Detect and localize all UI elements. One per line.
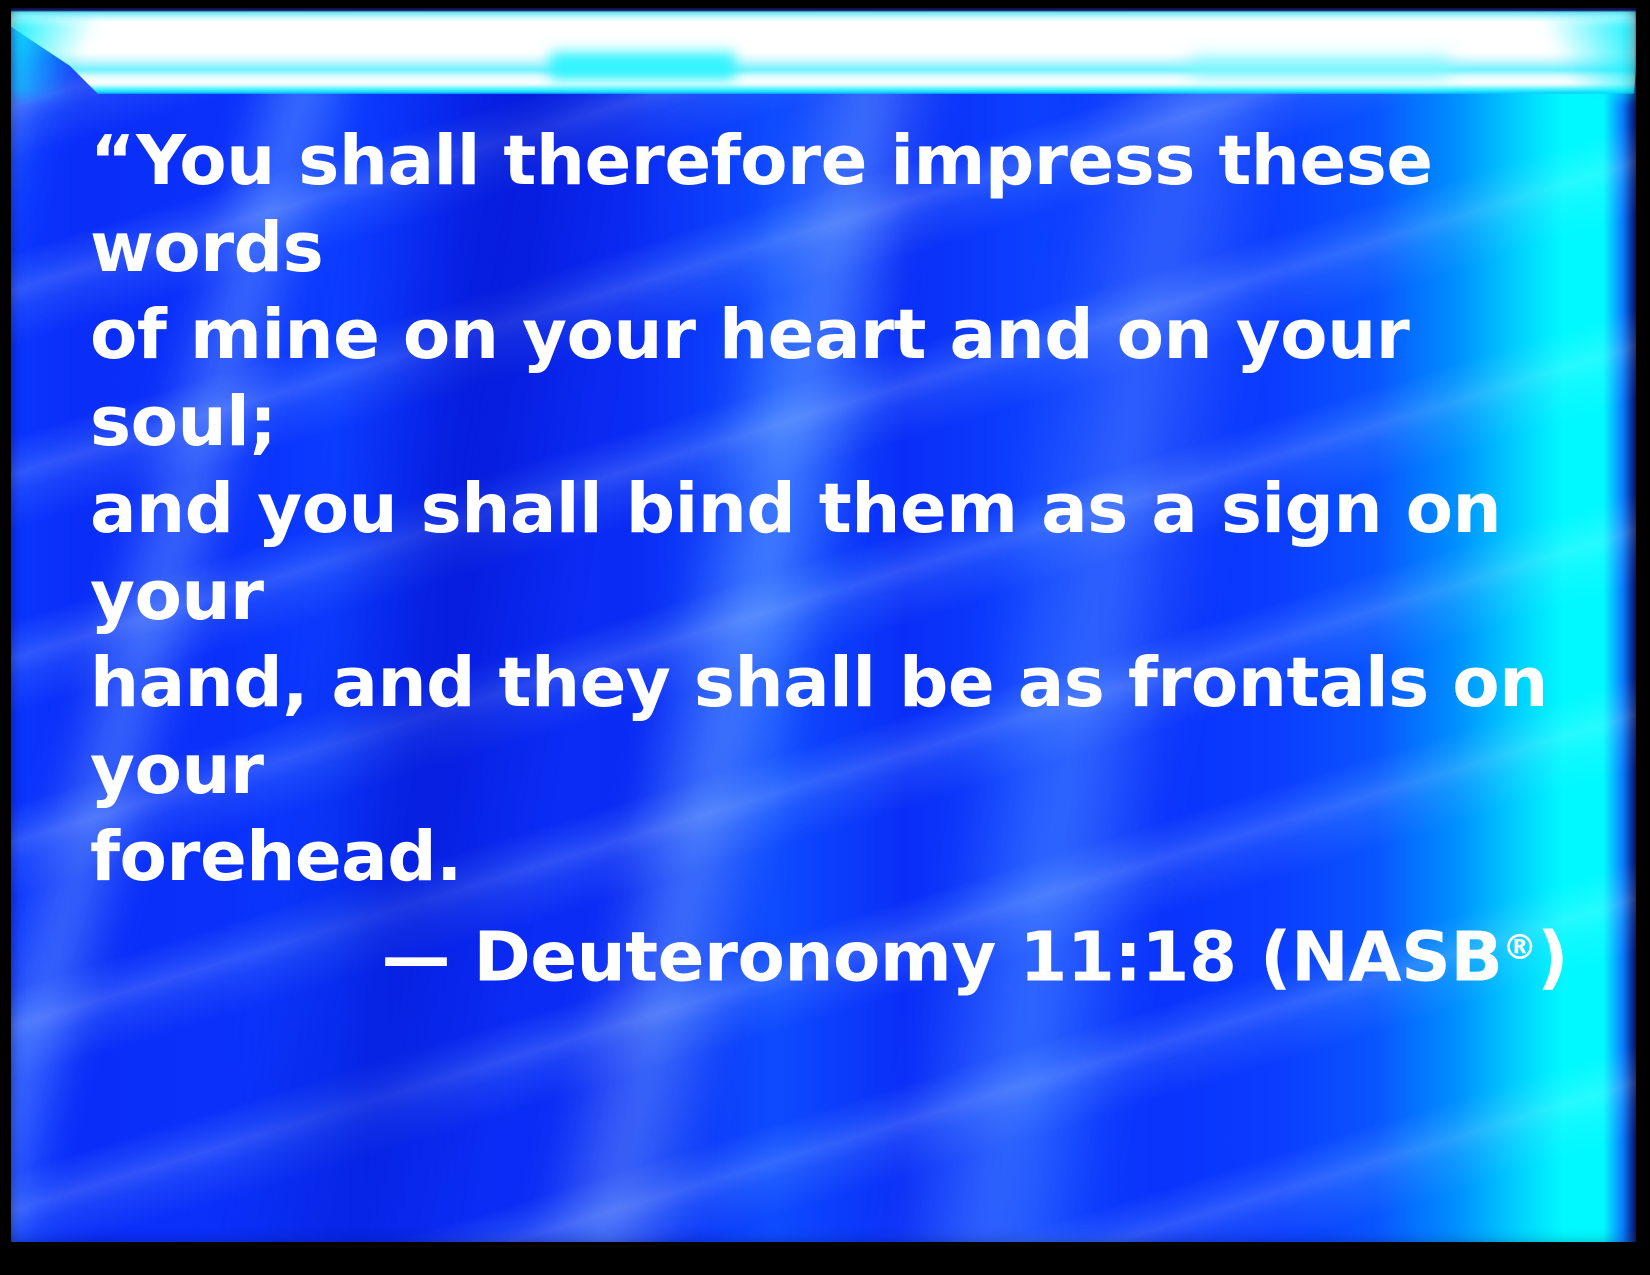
- attribution-main-text: — Deuteronomy 11:18 (NASB: [381, 917, 1502, 997]
- scripture-slide: “You shall therefore impress these words…: [0, 0, 1650, 1275]
- registered-trademark-icon: ®: [1502, 928, 1537, 968]
- verse-text: “You shall therefore impress these words…: [90, 118, 1570, 901]
- verse-attribution: — Deuteronomy 11:18 (NASB®): [90, 905, 1570, 1001]
- attribution-closing-paren: ): [1537, 917, 1568, 997]
- slide-background: “You shall therefore impress these words…: [10, 8, 1636, 1242]
- verse-block: “You shall therefore impress these words…: [90, 118, 1570, 1001]
